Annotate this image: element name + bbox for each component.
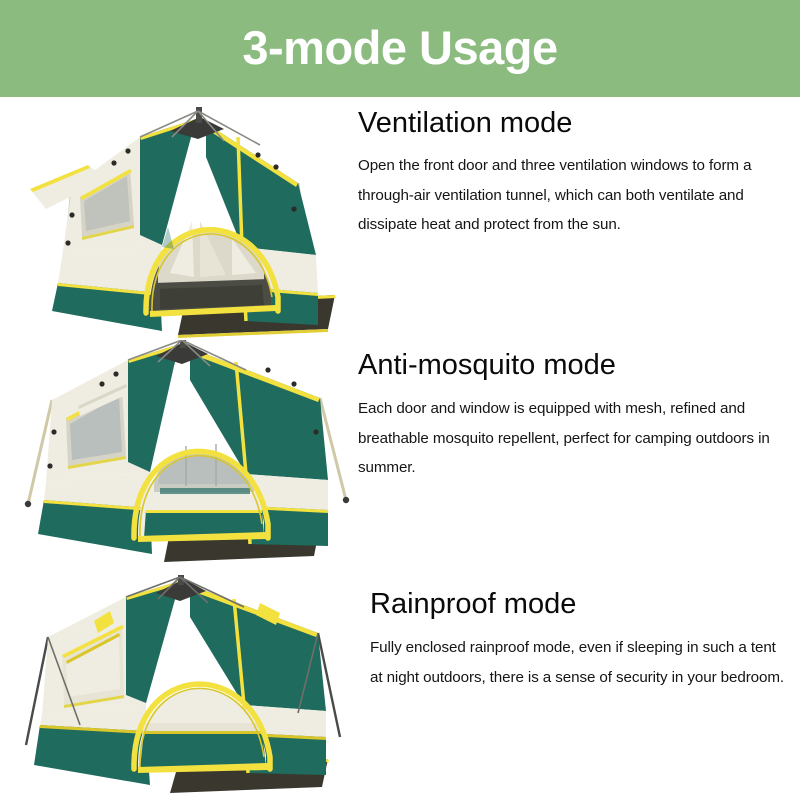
- section-body-text: Fully enclosed rainproof mode, even if s…: [370, 633, 788, 692]
- page-header-banner: 3-mode Usage: [0, 0, 800, 97]
- tent-illustration-rainproof: [10, 575, 358, 800]
- tent-illustration-anti-mosquito: [10, 340, 358, 575]
- section-heading: Anti-mosquito mode: [358, 350, 788, 380]
- section-heading: Ventilation mode: [358, 108, 788, 138]
- section-heading: Rainproof mode: [370, 589, 800, 619]
- section-text-ventilation: Ventilation mode Open the front door and…: [358, 97, 788, 240]
- section-ventilation: Ventilation mode Open the front door and…: [0, 97, 800, 340]
- section-text-rainproof: Rainproof mode Fully enclosed rainproof …: [370, 575, 800, 692]
- page-title: 3-mode Usage: [242, 24, 557, 71]
- section-body-text: Open the front door and three ventilatio…: [358, 151, 770, 240]
- section-anti-mosquito: Anti-mosquito mode Each door and window …: [0, 340, 800, 575]
- section-rainproof: Rainproof mode Fully enclosed rainproof …: [0, 575, 800, 800]
- tent-illustration-ventilation: [10, 97, 358, 340]
- section-body-text: Each door and window is equipped with me…: [358, 394, 784, 483]
- section-text-anti-mosquito: Anti-mosquito mode Each door and window …: [358, 340, 788, 483]
- product-info-page: 3-mode Usage: [0, 0, 800, 800]
